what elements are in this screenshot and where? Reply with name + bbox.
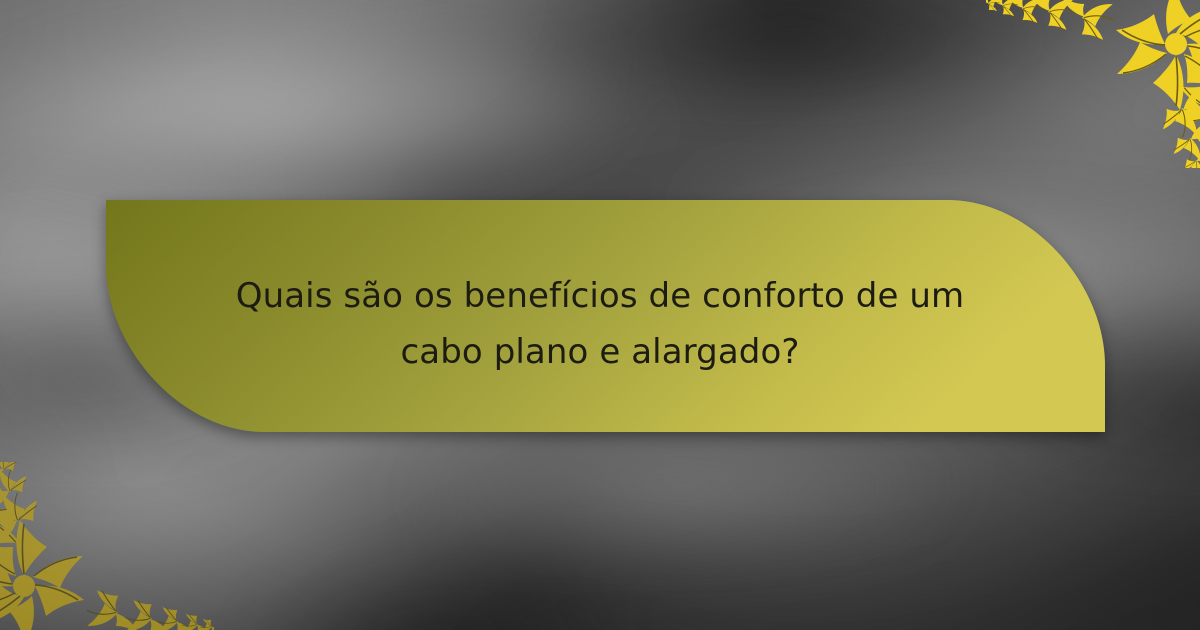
question-line-2: cabo plano e alargado? [400, 332, 799, 372]
question-card: Quais são os benefícios de conforto de u… [0, 0, 1200, 630]
corner-ornament-top-right-icon [986, 0, 1200, 168]
question-line-1: Quais são os benefícios de conforto de u… [236, 276, 965, 316]
corner-ornament-bottom-left-icon [0, 462, 214, 630]
question-text: Quais são os benefícios de conforto de u… [150, 268, 1050, 380]
